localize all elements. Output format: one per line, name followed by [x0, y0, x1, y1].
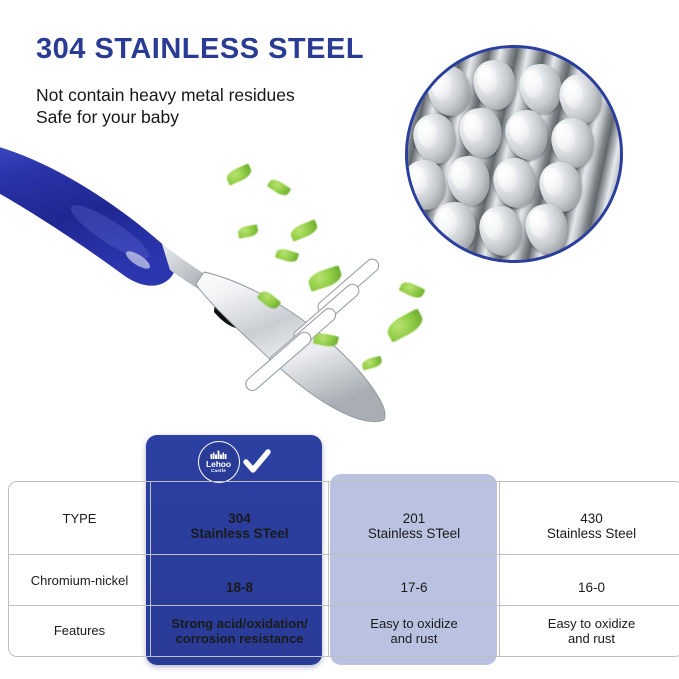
cell-type-304: 304 Stainless STeel: [150, 481, 328, 554]
row-label-features: Features: [8, 605, 150, 657]
table-row-chromium-nickel: Chromium-nickel 18-8 17-6 16-0: [8, 554, 679, 605]
cell-crni-430: 16-0: [499, 554, 679, 605]
cell-features-304: Strong acid/oxidation/ corrosion resista…: [150, 605, 328, 657]
cell-crni-304-text: 18-8: [226, 580, 253, 595]
row-label-chromium-nickel: Chromium-nickel: [8, 554, 150, 605]
table-row-type: TYPE 304 Stainless STeel 201 Stainless S…: [8, 481, 679, 554]
brand-badge-row: Lehoo Castle: [146, 440, 322, 484]
fork-svg: [0, 120, 460, 430]
baby-fork-illustration: [0, 120, 460, 430]
cell-type-201: 201 Stainless STeel: [328, 481, 499, 554]
page-title: 304 STAINLESS STEEL: [36, 33, 364, 66]
table-row-features: Features Strong acid/oxidation/ corrosio…: [8, 605, 679, 657]
logo-main-text: Lehoo: [206, 460, 231, 468]
cell-crni-201-text: 17-6: [400, 580, 427, 595]
comparison-table: TYPE 304 Stainless STeel 201 Stainless S…: [8, 481, 679, 657]
cell-type-430: 430 Stainless Steel: [499, 481, 679, 554]
cell-crni-201: 17-6: [328, 554, 499, 605]
logo-sub-text: Castle: [211, 468, 226, 474]
cell-type-201-text: 201 Stainless STeel: [368, 511, 460, 541]
castle-icon: [210, 450, 227, 459]
cell-crni-304: 18-8: [150, 554, 328, 605]
lehoo-castle-logo: Lehoo Castle: [198, 441, 240, 483]
cell-type-430-text: 430 Stainless Steel: [547, 511, 636, 541]
product-infographic: 304 STAINLESS STEEL Not contain heavy me…: [0, 0, 679, 679]
row-label-type: TYPE: [8, 481, 150, 554]
cell-crni-430-text: 16-0: [578, 580, 605, 595]
cell-features-430: Easy to oxidize and rust: [499, 605, 679, 657]
cell-type-304-text: 304 Stainless STeel: [190, 511, 288, 541]
checkmark-icon: [243, 449, 271, 475]
cell-features-201: Easy to oxidize and rust: [328, 605, 499, 657]
